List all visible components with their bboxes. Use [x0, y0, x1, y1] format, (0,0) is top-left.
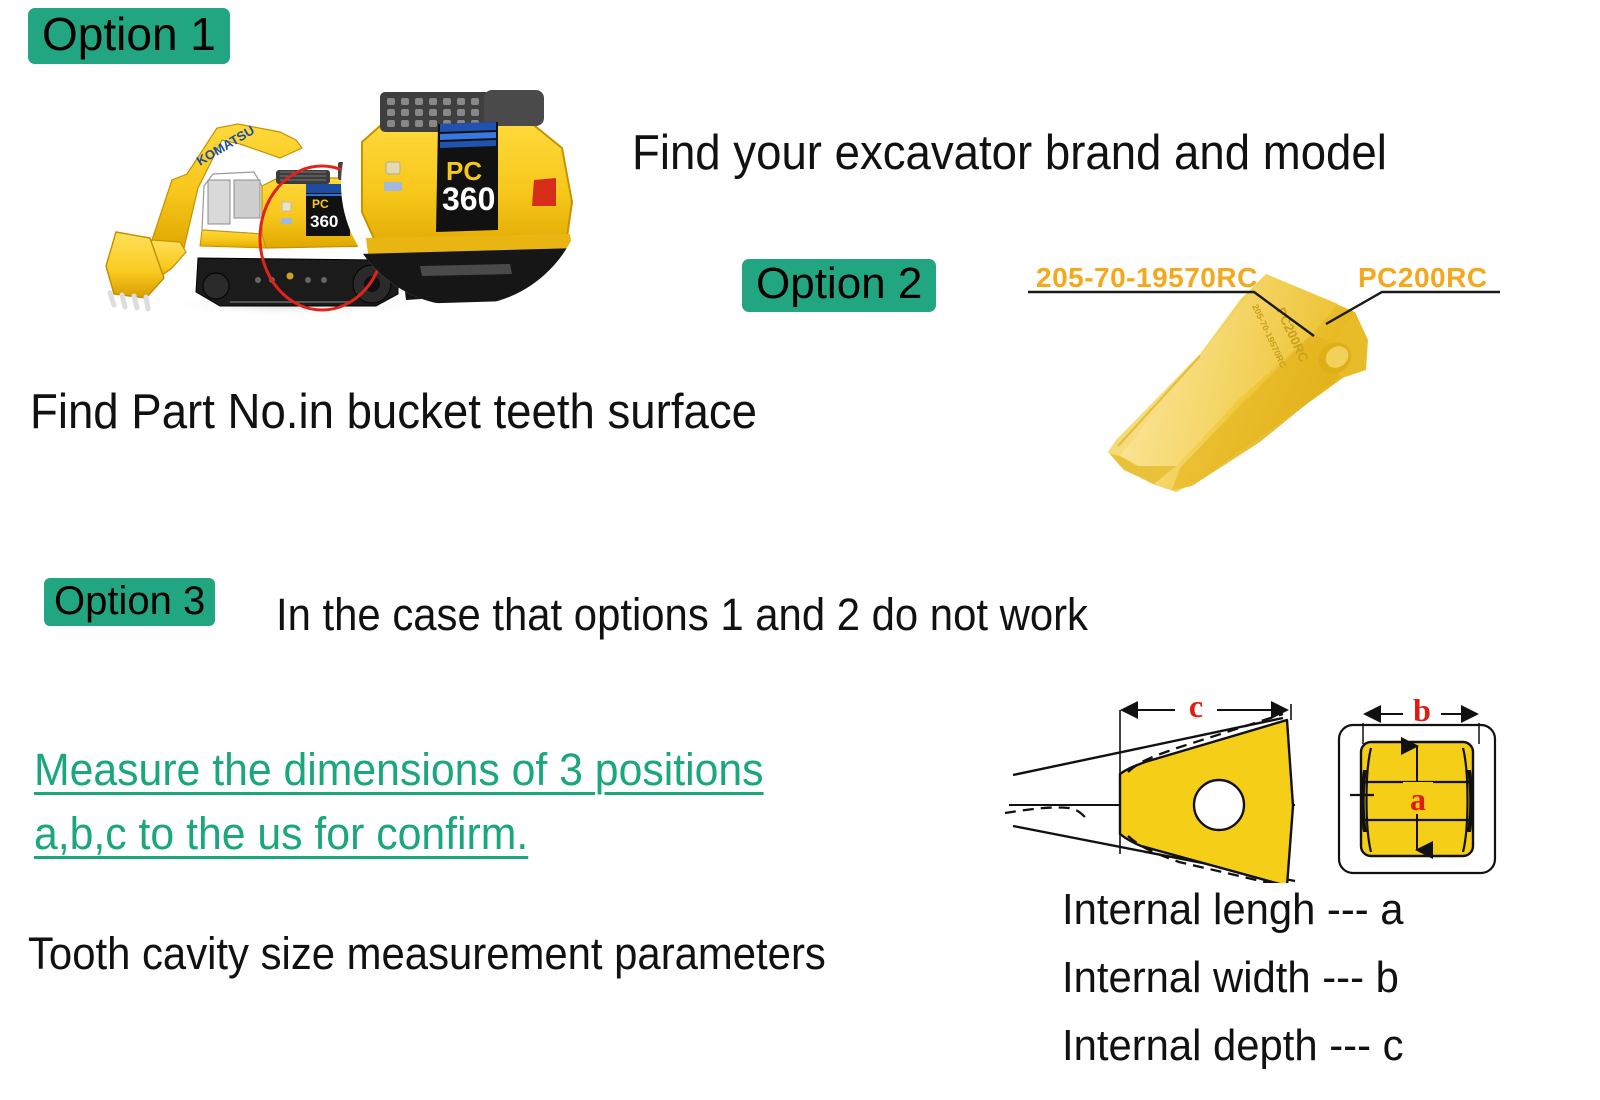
svg-text:360: 360	[310, 212, 338, 231]
option-2-badge: Option 2	[742, 259, 936, 312]
option-3-badge: Option 3	[44, 578, 215, 626]
excavator-image: KOMATSU PC 360	[80, 62, 600, 322]
dimension-label-a: a	[1410, 781, 1426, 817]
dimension-label-b: b	[1413, 692, 1431, 728]
dimension-diagram-svg: c c b	[965, 648, 1505, 883]
option-3-instruction: In the case that options 1 and 2 do not …	[276, 589, 1088, 641]
legend-internal-width: Internal width --- b	[1062, 953, 1399, 1003]
option-1-badge: Option 1	[28, 8, 230, 64]
side-section-view: c c	[1005, 688, 1295, 883]
option-2-instruction: Find Part No.in bucket teeth surface	[30, 384, 757, 440]
option-1-instruction: Find your excavator brand and model	[632, 125, 1387, 181]
legend-internal-length: Internal lengh --- a	[1062, 885, 1404, 935]
excavator-illustration-svg: KOMATSU PC 360	[80, 62, 600, 322]
svg-text:c: c	[1189, 688, 1203, 724]
measure-highlight-line-2: a,b,c to the us for confirm.	[34, 808, 528, 860]
front-view: b a	[1339, 692, 1495, 873]
dimension-diagram: c c b	[965, 648, 1505, 883]
measure-highlight-line-1: Measure the dimensions of 3 positions	[34, 744, 764, 796]
tooth-cavity-caption: Tooth cavity size measurement parameters	[28, 928, 826, 980]
callout-leader-lines	[1020, 250, 1520, 370]
legend-internal-depth: Internal depth --- c	[1062, 1021, 1404, 1071]
inset-model-number: 360	[442, 181, 495, 217]
svg-text:PC: PC	[312, 197, 329, 211]
magnifier-inset: PC 360	[341, 62, 585, 306]
